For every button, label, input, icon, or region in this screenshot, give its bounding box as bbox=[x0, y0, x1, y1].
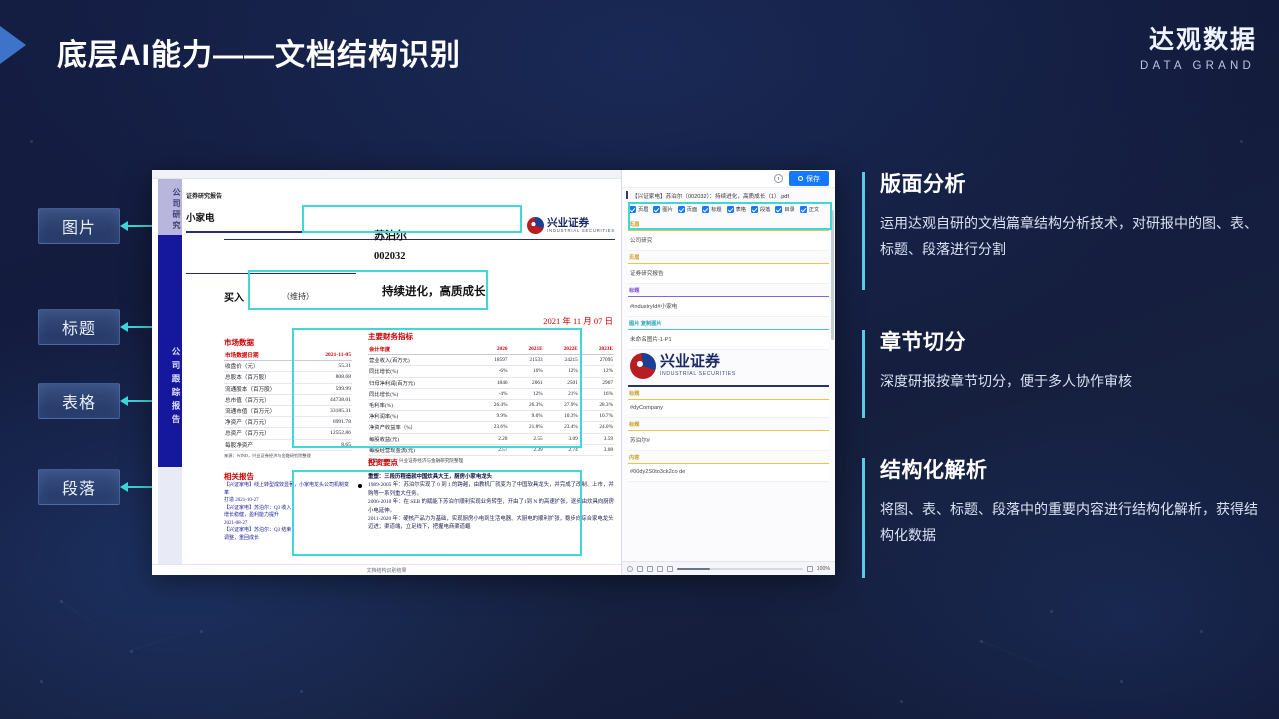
pdf-side-rail: 公司研究 公司跟踪报告 bbox=[158, 179, 182, 575]
cell-label: 净资产收益率（%） bbox=[368, 422, 474, 433]
structure-block-kind: 图片 复制图片 bbox=[628, 317, 829, 329]
table-row: 净资产（百万元）6991.78 bbox=[224, 417, 352, 428]
cell-value: -4% bbox=[474, 388, 508, 399]
save-button[interactable]: 保存 bbox=[789, 171, 829, 186]
cell-value: 26.3% bbox=[508, 399, 543, 410]
pdf-investment-lines: 重塑：三段历程造就中国炊具大王，厨房小家电龙头1989-2005 年：苏泊尔实现… bbox=[368, 473, 618, 532]
cell-label: 市场数据日期 bbox=[224, 350, 308, 361]
panel-scrollbar[interactable] bbox=[831, 210, 834, 340]
cell-label: 净利润率(%) bbox=[368, 411, 474, 422]
callout-tag-paragraph-label: 段落 bbox=[62, 475, 96, 499]
cell-value: 27095 bbox=[579, 355, 614, 366]
related-report-line: 增长稳健，盈利能力提升 bbox=[224, 512, 352, 520]
cell-label: 同比增长(%) bbox=[368, 388, 474, 399]
cell-value: -6% bbox=[474, 366, 508, 377]
connector-heading-arrow-icon bbox=[120, 322, 128, 332]
pdf-bullet-icon bbox=[358, 484, 362, 488]
cell-label: 总股本（百万股） bbox=[224, 372, 308, 383]
connector-paragraph-arrow-icon bbox=[120, 482, 128, 492]
cell-value: 2021-11-05 bbox=[308, 350, 352, 361]
pdf-date: 2021 年 11 月 07 日 bbox=[543, 315, 613, 327]
table-row: 每股收益(元)2.282.553.093.59 bbox=[368, 433, 614, 444]
cell-label: 总市值（百万元） bbox=[224, 394, 308, 405]
feature-structured-parsing-desc: 将图、表、标题、段落中的重要内容进行结构化解析，获得结构化数据 bbox=[880, 497, 1262, 549]
table-row: 总股本（百万股）808.68 bbox=[224, 372, 352, 383]
zoom-level-label: 100% bbox=[817, 566, 830, 572]
document-filename: 【兴证家电】苏泊尔（002032）：持续进化，高质成长（1）.pdf bbox=[622, 188, 835, 203]
structure-block-value[interactable]: #dyCompany bbox=[628, 400, 829, 418]
structure-block-value[interactable]: 苏泊尔# bbox=[628, 431, 829, 451]
cell-label: 总资产（百万元） bbox=[224, 428, 308, 439]
checkbox-checked-icon bbox=[751, 206, 758, 213]
cell-value: 10.3% bbox=[544, 411, 579, 422]
feature-layout-analysis-desc: 运用达观自研的文档篇章结构分析技术，对研报中的图、表、标题、段落进行分割 bbox=[880, 211, 1262, 263]
pdf-financial-source: 来源：WIND，兴业证券经济与金融研究院整理 bbox=[368, 458, 614, 464]
filter-checkbox-label: 页面 bbox=[687, 206, 697, 213]
callout-tag-image: 图片 bbox=[38, 208, 120, 244]
callout-tag-paragraph: 段落 bbox=[38, 469, 120, 505]
cell-label: 每股净资产 bbox=[224, 439, 308, 450]
cell-value: 27.9% bbox=[544, 399, 579, 410]
pdf-publisher-name-en: INDUSTRIAL SECURITIES bbox=[547, 229, 615, 233]
cell-value: 21% bbox=[544, 388, 579, 399]
cell-value: 1846 bbox=[474, 377, 508, 388]
pdf-rating-prev: （维持） bbox=[282, 291, 314, 302]
filter-checkbox-label: 图片 bbox=[662, 206, 672, 213]
checkbox-checked-icon bbox=[702, 206, 709, 213]
structure-block-kind: 内容 bbox=[628, 451, 829, 463]
save-icon bbox=[798, 176, 803, 181]
industrial-securities-mark-icon bbox=[527, 217, 544, 234]
pdf-market-data-rows: 市场数据日期2021-11-05收盘价（元）55.31总股本（百万股）808.6… bbox=[224, 350, 352, 450]
pdf-market-data-title: 市场数据 bbox=[224, 337, 352, 348]
pdf-investment-block: 投资要点 重塑：三段历程造就中国炊具大王，厨房小家电龙头1989-2005 年：… bbox=[368, 469, 618, 532]
cell-value: 12% bbox=[544, 366, 579, 377]
brand-name-cn: 达观数据 bbox=[1140, 20, 1257, 56]
column-header: 2022E bbox=[544, 344, 579, 355]
structure-block-list: 页眉公司研究页眉证券研究报告标题#industryId#小家电图片 复制图片未命… bbox=[622, 218, 835, 482]
cell-value: 12% bbox=[508, 388, 543, 399]
column-header: 2021E bbox=[508, 344, 543, 355]
brand-logo: 达观数据 DATA GRAND bbox=[1140, 20, 1257, 72]
cell-value: 9.6% bbox=[508, 411, 543, 422]
checkbox-checked-icon bbox=[629, 206, 636, 213]
feature-section-split-title: 章节切分 bbox=[880, 326, 1262, 356]
pdf-rule-2 bbox=[186, 273, 356, 275]
structure-block-value[interactable]: 公司研究 bbox=[628, 231, 829, 251]
feature-structured-parsing-title: 结构化解析 bbox=[880, 454, 1262, 484]
cell-value: 3.09 bbox=[544, 433, 579, 444]
pdf-side-label-report: 公司跟踪报告 bbox=[158, 235, 182, 467]
cell-value: 24215 bbox=[544, 355, 579, 366]
pdf-page: 公司研究 公司跟踪报告 证券研究报告 小家电 兴业证券 INDUSTRIAL S… bbox=[152, 179, 621, 575]
pdf-market-data-table: 市场数据日期2021-11-05收盘价（元）55.31总股本（百万股）808.6… bbox=[224, 350, 352, 451]
rotate-icon[interactable] bbox=[657, 566, 663, 572]
column-header: 2023E bbox=[579, 344, 614, 355]
structure-block-kind: 标题 bbox=[628, 418, 829, 430]
pdf-financial-table: 会计年度20202021E2022E2023E 营业收入(百万元)1859721… bbox=[368, 344, 614, 456]
cell-value: 33185.31 bbox=[308, 405, 352, 416]
table-row: 归母净利润(百万元)1846206125012907 bbox=[368, 377, 614, 388]
filter-checkbox-label: 目录 bbox=[784, 206, 794, 213]
callout-tag-heading-label: 标题 bbox=[62, 315, 96, 339]
cell-value: 2.28 bbox=[474, 433, 508, 444]
filter-checkbox-label: 页眉 bbox=[638, 206, 648, 213]
table-row: 收盘价（元）55.31 bbox=[224, 361, 352, 372]
filter-checkbox-label: 标题 bbox=[711, 206, 721, 213]
pdf-market-data-block: 市场数据 市场数据日期2021-11-05收盘价（元）55.31总股本（百万股）… bbox=[224, 337, 352, 459]
table-row: 每股经营现金流(元)2.572.392.743.08 bbox=[368, 444, 614, 455]
feature-list: 版面分析 运用达观自研的文档篇章结构分析技术，对研报中的图、表、标题、段落进行分… bbox=[862, 168, 1262, 614]
cell-value: 23.6% bbox=[474, 422, 508, 433]
pdf-side-filler bbox=[158, 467, 182, 575]
table-row: 净利润率(%)9.9%9.6%10.3%10.7% bbox=[368, 411, 614, 422]
callout-tag-table-label: 表格 bbox=[62, 389, 96, 413]
pdf-financial-title: 主要财务指标 bbox=[368, 331, 614, 342]
cell-label: 营业收入(百万元) bbox=[368, 355, 474, 366]
cell-value: 8.65 bbox=[308, 439, 352, 450]
filter-checkbox-页面[interactable]: 页面 bbox=[678, 206, 697, 213]
cell-value: 16% bbox=[508, 366, 543, 377]
table-row: 同比增长(%)-4%12%21%16% bbox=[368, 388, 614, 399]
filter-checkbox-图片[interactable]: 图片 bbox=[653, 206, 672, 213]
pointer-icon[interactable] bbox=[637, 566, 643, 572]
structure-panel-toolbar: 保存 bbox=[622, 170, 835, 188]
related-report-line: 【兴证家电】线上转型成效显著，小家电龙头公司机制变革 bbox=[224, 482, 352, 497]
checkbox-checked-icon bbox=[727, 206, 734, 213]
filter-checkbox-表格[interactable]: 表格 bbox=[727, 206, 746, 213]
industrial-securities-mark-icon bbox=[630, 353, 656, 379]
related-report-line: 2021-08-27 bbox=[224, 520, 352, 528]
checkbox-checked-icon bbox=[800, 206, 807, 213]
callout-tag-heading: 标题 bbox=[38, 309, 120, 345]
filter-checkbox-标题[interactable]: 标题 bbox=[702, 206, 721, 213]
paragraph-line: 2011-2020 年：硬核产品力为基础，实现厨房小电到生活电器、大厨电的顺利扩… bbox=[368, 515, 618, 532]
fullscreen-icon[interactable] bbox=[807, 566, 813, 572]
cell-value: 10.7% bbox=[579, 411, 614, 422]
structure-block-value[interactable]: 未命名图片-1-P1 bbox=[628, 330, 829, 350]
cell-value: 3.59 bbox=[579, 433, 614, 444]
cell-value: 23.4% bbox=[544, 422, 579, 433]
cell-value: 12% bbox=[579, 366, 614, 377]
checkbox-checked-icon bbox=[678, 206, 685, 213]
structure-filter-checkboxes: 页眉图片页面标题表格段落目录正文 bbox=[622, 203, 835, 218]
pdf-financial-rows: 营业收入(百万元)18597215332421527095同比增长(%)-6%1… bbox=[368, 355, 614, 456]
cell-value: 44738.01 bbox=[308, 394, 352, 405]
pdf-stock-code: 002032 bbox=[374, 251, 406, 262]
cell-label: 每股经营现金流(元) bbox=[368, 444, 474, 455]
cell-value: 2501 bbox=[544, 377, 579, 388]
cell-label: 净资产（百万元） bbox=[224, 417, 308, 428]
cell-value: 3.08 bbox=[579, 444, 614, 455]
table-row: 净资产收益率（%）23.6%21.8%23.4%24.0% bbox=[368, 422, 614, 433]
cell-value: 21533 bbox=[508, 355, 543, 366]
cell-label: 流通股本（百万股） bbox=[224, 383, 308, 394]
pdf-related-lines: 【兴证家电】线上转型成效显著，小家电龙头公司机制变革打造 2021-10-27【… bbox=[224, 482, 352, 542]
pdf-market-data-source: 来源：WIND，兴业证券经济与金融研究院整理 bbox=[224, 453, 352, 459]
cell-value: 6991.78 bbox=[308, 417, 352, 428]
pdf-financial-head: 会计年度20202021E2022E2023E bbox=[368, 344, 614, 355]
related-report-line: 调整，重回成长 bbox=[224, 535, 352, 543]
table-row: 每股净资产8.65 bbox=[224, 439, 352, 450]
table-header-row: 会计年度20202021E2022E2023E bbox=[368, 344, 614, 355]
structure-block-kind: 页眉 bbox=[628, 251, 829, 263]
pdf-publisher-logo: 兴业证券 INDUSTRIAL SECURITIES bbox=[527, 217, 615, 234]
cell-value: 18597 bbox=[474, 355, 508, 366]
cell-value: 2.74 bbox=[544, 444, 579, 455]
viewer-statusbar: 100% bbox=[622, 561, 835, 575]
structure-image-logo-cn: 兴业证券 bbox=[660, 355, 736, 370]
structure-block-image-preview: 兴业证券INDUSTRIAL SECURITIES bbox=[628, 350, 829, 385]
cell-value: 26.4% bbox=[474, 399, 508, 410]
checkbox-checked-icon bbox=[653, 206, 660, 213]
structure-block-value[interactable]: #00dy2S0to3ck2co de bbox=[628, 464, 829, 482]
table-row: 营业收入(百万元)18597215332421527095 bbox=[368, 355, 614, 366]
table-row: 流通股本（百万股）599.99 bbox=[224, 383, 352, 394]
filter-checkbox-页眉[interactable]: 页眉 bbox=[629, 206, 648, 213]
feature-layout-analysis-title: 版面分析 bbox=[880, 168, 1262, 198]
feature-section-split-desc: 深度研报按章节切分，便于多人协作审核 bbox=[880, 369, 1262, 395]
column-header: 2020 bbox=[474, 344, 508, 355]
cell-value: 808.68 bbox=[308, 372, 352, 383]
product-screenshot: 公司研究 公司跟踪报告 证券研究报告 小家电 兴业证券 INDUSTRIAL S… bbox=[152, 170, 835, 575]
callout-tag-image-label: 图片 bbox=[62, 214, 96, 238]
cell-label: 同比增长(%) bbox=[368, 366, 474, 377]
pdf-rule-1 bbox=[186, 231, 356, 233]
cell-value: 2061 bbox=[508, 377, 543, 388]
feature-section-split: 章节切分 深度研报按章节切分，便于多人协作审核 bbox=[862, 326, 1262, 414]
table-row: 总资产（百万元）12552.86 bbox=[224, 428, 352, 439]
pdf-side-label-research: 公司研究 bbox=[158, 179, 182, 235]
pdf-toolbar bbox=[152, 170, 621, 179]
cell-value: 12552.86 bbox=[308, 428, 352, 439]
table-row: 流通市值（百万元）33185.31 bbox=[224, 405, 352, 416]
filter-checkbox-目录[interactable]: 目录 bbox=[775, 206, 794, 213]
filter-checkbox-正文[interactable]: 正文 bbox=[800, 206, 819, 213]
history-icon[interactable] bbox=[774, 174, 783, 183]
checkbox-checked-icon bbox=[775, 206, 782, 213]
cell-value: 24.0% bbox=[579, 422, 614, 433]
table-row: 毛利率(%)26.4%26.3%27.9%28.3% bbox=[368, 399, 614, 410]
paragraph-line: 2006-2010 年：在 SEB 的赋能下苏泊尔顺利实现业务转型，开由了1到 … bbox=[368, 498, 618, 515]
filter-checkbox-label: 段落 bbox=[760, 206, 770, 213]
feature-structured-parsing: 结构化解析 将图、表、标题、段落中的重要内容进行结构化解析，获得结构化数据 bbox=[862, 454, 1262, 574]
structure-block-value[interactable]: 证券研究报告 bbox=[628, 264, 829, 284]
pdf-footer: 文档结构识别结果 bbox=[152, 564, 621, 575]
paragraph-line: 1989-2005 年：苏泊尔实现了 0 到 1 的跨越，由教机厂就变为了中国软… bbox=[368, 481, 618, 498]
pdf-kicker: 证券研究报告 bbox=[186, 191, 619, 200]
cell-label: 每股收益(元) bbox=[368, 433, 474, 444]
filter-checkbox-label: 表格 bbox=[736, 206, 746, 213]
paragraph-line: 重塑：三段历程造就中国炊具大王，厨房小家电龙头 bbox=[368, 473, 618, 481]
filter-checkbox-label: 正文 bbox=[809, 206, 819, 213]
cell-value: 55.31 bbox=[308, 361, 352, 372]
fit-icon[interactable] bbox=[627, 566, 633, 572]
table-row: 同比增长(%)-6%16%12%12% bbox=[368, 366, 614, 377]
feature-layout-analysis: 版面分析 运用达观自研的文档篇章结构分析技术，对研报中的图、表、标题、段落进行分… bbox=[862, 168, 1262, 286]
pdf-company-name: 苏泊尔 bbox=[374, 227, 407, 243]
structure-block-kind: 标题 bbox=[628, 284, 829, 296]
cell-value: 2.55 bbox=[508, 433, 543, 444]
pdf-investment-title: 投资要点 bbox=[368, 457, 398, 468]
pdf-rating: 买入 bbox=[224, 289, 244, 304]
connector-table-arrow-icon bbox=[120, 396, 128, 406]
related-report-line: 【兴证家电】苏泊尔：Q3 收入 bbox=[224, 505, 352, 513]
cell-value: 599.99 bbox=[308, 383, 352, 394]
pdf-rule-top bbox=[224, 239, 615, 240]
column-header: 会计年度 bbox=[368, 344, 474, 355]
pdf-content: 证券研究报告 小家电 兴业证券 INDUSTRIAL SECURITIES 苏泊… bbox=[186, 179, 619, 575]
cell-label: 流通市值（百万元） bbox=[224, 405, 308, 416]
cell-label: 收盘价（元） bbox=[224, 361, 308, 372]
cell-value: 9.9% bbox=[474, 411, 508, 422]
cell-value: 21.8% bbox=[508, 422, 543, 433]
cell-value: 28.3% bbox=[579, 399, 614, 410]
cell-label: 毛利率(%) bbox=[368, 399, 474, 410]
zoom-slider[interactable] bbox=[677, 568, 803, 570]
grid-icon[interactable] bbox=[667, 566, 673, 572]
table-row: 总市值（百万元）44738.01 bbox=[224, 394, 352, 405]
pdf-viewer-pane: 公司研究 公司跟踪报告 证券研究报告 小家电 兴业证券 INDUSTRIAL S… bbox=[152, 170, 622, 575]
structure-image-logo-en: INDUSTRIAL SECURITIES bbox=[660, 371, 736, 377]
pdf-headline: 持续进化，高质成长 bbox=[382, 283, 486, 299]
connector-image-arrow-icon bbox=[120, 221, 128, 231]
brand-name-en: DATA GRAND bbox=[1140, 60, 1257, 72]
cell-value: 16% bbox=[579, 388, 614, 399]
cell-label: 归母净利润(百万元) bbox=[368, 377, 474, 388]
structure-panel: 保存 【兴证家电】苏泊尔（002032）：持续进化，高质成长（1）.pdf 页眉… bbox=[622, 170, 835, 575]
callout-tag-table: 表格 bbox=[38, 383, 120, 419]
save-button-label: 保存 bbox=[806, 174, 820, 184]
table-row: 市场数据日期2021-11-05 bbox=[224, 350, 352, 361]
related-report-line: 打造 2021-10-27 bbox=[224, 497, 352, 505]
pdf-financial-block: 主要财务指标 会计年度20202021E2022E2023E 营业收入(百万元)… bbox=[368, 331, 614, 464]
cell-value: 2.57 bbox=[474, 444, 508, 455]
pdf-related-block: 相关报告 【兴证家电】线上转型成效显著，小家电龙头公司机制变革打造 2021-1… bbox=[224, 471, 352, 542]
filter-checkbox-段落[interactable]: 段落 bbox=[751, 206, 770, 213]
cell-value: 2.39 bbox=[508, 444, 543, 455]
structure-block-kind: 页眉 bbox=[628, 218, 829, 230]
structure-block-kind: 标题 bbox=[628, 387, 829, 399]
structure-block-value[interactable]: #industryId#小家电 bbox=[628, 297, 829, 317]
cell-value: 2907 bbox=[579, 377, 614, 388]
pdf-related-title: 相关报告 bbox=[224, 471, 352, 482]
pages-icon[interactable] bbox=[647, 566, 653, 572]
related-report-line: 【兴证家电】苏泊尔：Q3 结束 bbox=[224, 527, 352, 535]
